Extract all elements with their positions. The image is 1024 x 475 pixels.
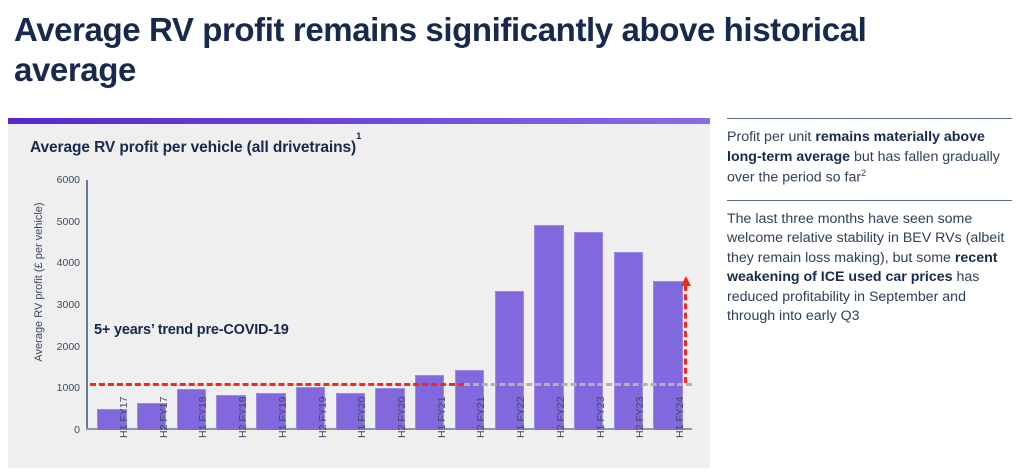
- x-tick: H2 FY20: [370, 434, 410, 475]
- x-tick-label: H1 FY24: [674, 397, 686, 438]
- x-tick-label: H2 FY23: [634, 397, 646, 438]
- plot-canvas: 5+ years’ trend pre-COVID-19: [88, 180, 692, 430]
- commentary-paragraph: Profit per unit remains materially above…: [727, 119, 1012, 200]
- bar-cell[interactable]: [609, 180, 649, 430]
- x-tick: H2 FY23: [609, 434, 649, 475]
- bar-cell[interactable]: [291, 180, 331, 430]
- bar-cell[interactable]: [450, 180, 490, 430]
- y-tick-label: 1000: [38, 382, 80, 394]
- x-tick-label: H2 FY17: [158, 397, 170, 438]
- x-axis-ticks: H1 FY17H2 FY17H1 FY18H2 FY18H1 FY19H2 FY…: [88, 434, 692, 475]
- bar-cell[interactable]: [569, 180, 609, 430]
- bar-cell[interactable]: [330, 180, 370, 430]
- bar-cell[interactable]: [251, 180, 291, 430]
- x-tick: H1 FY18: [171, 434, 211, 475]
- x-tick-label: H1 FY18: [197, 397, 209, 438]
- bar-series: [88, 180, 692, 430]
- x-tick: H1 FY20: [330, 434, 370, 475]
- bar-cell[interactable]: [410, 180, 450, 430]
- body-text: Profit per unit: [727, 129, 815, 145]
- chart-title: Average RV profit per vehicle (all drive…: [30, 138, 361, 157]
- page-title: Average RV profit remains significantly …: [14, 10, 974, 91]
- x-tick-label: H2 FY19: [317, 397, 329, 438]
- trend-line-red: [90, 383, 464, 386]
- x-tick: H2 FY18: [211, 434, 251, 475]
- y-tick-label: 3000: [38, 299, 80, 311]
- x-tick: H1 FY17: [92, 434, 132, 475]
- y-axis-ticks: 0100020003000400050006000: [38, 168, 80, 468]
- x-tick-label: H1 FY17: [118, 397, 130, 438]
- trend-line-grey: [464, 383, 692, 386]
- footnote-marker: 2: [861, 168, 866, 178]
- x-tick-label: H1 FY19: [277, 397, 289, 438]
- x-tick: H2 FY22: [529, 434, 569, 475]
- x-tick-label: H1 FY22: [515, 397, 527, 438]
- x-tick: H1 FY19: [251, 434, 291, 475]
- bar-cell[interactable]: [92, 180, 132, 430]
- x-tick: H2 FY19: [291, 434, 331, 475]
- chart-card: Average RV profit per vehicle (all drive…: [8, 118, 710, 468]
- commentary-panel: Profit per unit remains materially above…: [727, 118, 1012, 338]
- y-tick-label: 4000: [38, 257, 80, 269]
- slide-root: Average RV profit remains significantly …: [0, 0, 1024, 475]
- x-tick: H1 FY21: [410, 434, 450, 475]
- y-tick-label: 6000: [38, 174, 80, 186]
- y-tick-label: 5000: [38, 216, 80, 228]
- x-tick: H2 FY17: [132, 434, 172, 475]
- bar-cell[interactable]: [132, 180, 172, 430]
- bar-cell[interactable]: [489, 180, 529, 430]
- bar-cell[interactable]: [211, 180, 251, 430]
- x-tick-label: H2 FY22: [555, 397, 567, 438]
- x-tick-label: H2 FY20: [396, 397, 408, 438]
- x-tick-label: H1 FY21: [436, 397, 448, 438]
- card-accent-bar: [8, 118, 710, 124]
- plot-area: Average RV profit (£ per vehicle) 010002…: [8, 168, 710, 468]
- x-tick-label: H1 FY20: [356, 397, 368, 438]
- x-tick: H1 FY24: [648, 434, 688, 475]
- gap-arrow-annotation: [684, 285, 687, 383]
- trend-line-label: 5+ years’ trend pre-COVID-19: [94, 322, 289, 338]
- x-tick: H1 FY23: [569, 434, 609, 475]
- chart-title-footnote-marker: 1: [356, 131, 361, 142]
- bar-cell[interactable]: [370, 180, 410, 430]
- x-tick: H1 FY22: [489, 434, 529, 475]
- commentary-paragraph: The last three months have seen some wel…: [727, 201, 1012, 339]
- bar-cell[interactable]: [529, 180, 569, 430]
- x-tick: H2 FY21: [450, 434, 490, 475]
- chart-title-text: Average RV profit per vehicle (all drive…: [30, 139, 356, 156]
- x-tick-label: H2 FY18: [237, 397, 249, 438]
- bar-cell[interactable]: [171, 180, 211, 430]
- x-tick-label: H1 FY23: [595, 397, 607, 438]
- x-tick-label: H2 FY21: [475, 397, 487, 438]
- y-tick-label: 2000: [38, 341, 80, 353]
- bar-cell[interactable]: [648, 180, 688, 430]
- y-tick-label: 0: [38, 424, 80, 436]
